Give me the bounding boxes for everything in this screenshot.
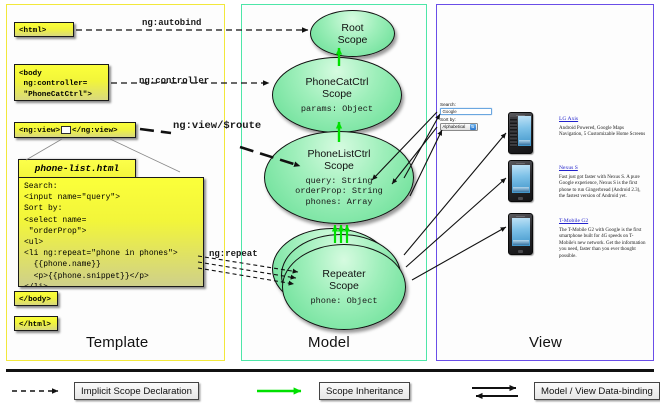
scope-root: Root Scope — [310, 10, 395, 57]
phone-description: Fast just got faster with Nexus S. A pur… — [559, 175, 647, 201]
edge-label-route: ng:view/$route — [173, 120, 261, 132]
phone-screen-icon — [512, 165, 530, 193]
view-search-label: Search: — [440, 102, 456, 107]
scope-phonelistctrl: PhoneListCtrl Scope query: String orderP… — [264, 131, 414, 224]
view-sort-selected-value: Alphabetical — [443, 123, 466, 130]
panel-label-view: View — [529, 334, 562, 351]
code-ngview: <ng:view></ng:view> — [14, 122, 136, 138]
legend-divider — [6, 369, 654, 372]
phone-description: Android Powered, Google Maps Navigation,… — [559, 126, 647, 139]
phone-thumbnail-image — [508, 160, 533, 202]
code-html-close: </html> — [14, 316, 58, 331]
legend-label-scope-inheritance: Scope Inheritance — [319, 382, 410, 400]
edge-label-controller: ng:controller — [139, 76, 209, 86]
phone-list-note-title: phone-list.html — [18, 159, 136, 178]
view-sort-label: Sort by: — [440, 117, 456, 122]
phone-name-link[interactable]: T-Mobile G2 — [559, 218, 588, 224]
phone-name-link[interactable]: LG Axis — [559, 116, 578, 122]
panel-label-model: Model — [308, 334, 350, 351]
green-arrow-icon — [255, 383, 313, 399]
scope-repeater-props: phone: Object — [310, 296, 377, 307]
scope-repeater-title: Repeater Scope — [322, 268, 365, 292]
panel-label-template: Template — [86, 334, 148, 351]
edge-label-autobind: ng:autobind — [142, 18, 201, 28]
phone-screen-icon — [518, 116, 531, 146]
phone-description: The T-Mobile G2 with Google is the first… — [559, 228, 647, 260]
code-html-open: <html> — [14, 22, 74, 37]
phone-screen-icon — [512, 218, 530, 246]
legend-item-data-binding: Model / View Data-binding — [470, 382, 660, 400]
phone-thumbnail-image — [508, 112, 533, 154]
phone-speaker-icon — [516, 163, 525, 164]
view-sort-select[interactable]: Alphabetical ⇅ — [440, 123, 478, 131]
edge-label-repeat: ng:repeat — [209, 249, 258, 259]
diagram-canvas: <html> <body ng:controller= "PhoneCatCtr… — [0, 0, 660, 405]
phone-home-button-icon — [518, 250, 523, 253]
ngview-open-tag: <ng:view> — [19, 127, 60, 135]
scope-repeater: Repeater Scope phone: Object — [282, 244, 406, 330]
scope-phonecatctrl-title: PhoneCatCtrl Scope — [305, 76, 368, 100]
code-body-close: </body> — [14, 291, 58, 306]
scope-phonelistctrl-title: PhoneListCtrl Scope — [307, 148, 370, 172]
scope-phonecatctrl-props: params: Object — [301, 104, 373, 115]
legend-item-scope-inheritance: Scope Inheritance — [255, 382, 410, 400]
phone-list-note-code: Search: <input name="query"> Sort by: <s… — [18, 177, 204, 287]
chevron-down-icon: ⇅ — [470, 124, 476, 130]
legend-label-data-binding: Model / View Data-binding — [534, 382, 660, 400]
legend-item-implicit-scope: Implicit Scope Declaration — [10, 382, 199, 400]
double-arrow-icon — [470, 383, 528, 399]
view-search-input[interactable]: Google — [440, 108, 492, 115]
scope-phonecatctrl: PhoneCatCtrl Scope params: Object — [272, 57, 402, 133]
dashed-arrow-icon — [10, 383, 68, 399]
phone-name-link[interactable]: Nexus S — [559, 165, 578, 171]
code-body-open: <body ng:controller= "PhoneCatCtrl"> — [14, 64, 109, 101]
phone-speaker-icon — [516, 216, 525, 217]
phone-list-note: phone-list.html Search: <input name="que… — [18, 159, 206, 287]
phone-thumbnail-image — [508, 213, 533, 255]
legend-label-implicit-scope: Implicit Scope Declaration — [74, 382, 199, 400]
ngview-close-tag: </ng:view> — [72, 127, 118, 135]
ngview-slot-icon — [61, 126, 71, 134]
scope-root-title: Root Scope — [338, 22, 368, 46]
phone-home-button-icon — [518, 197, 523, 200]
scope-phonelistctrl-props: query: String orderProp: String phones: … — [295, 176, 383, 208]
